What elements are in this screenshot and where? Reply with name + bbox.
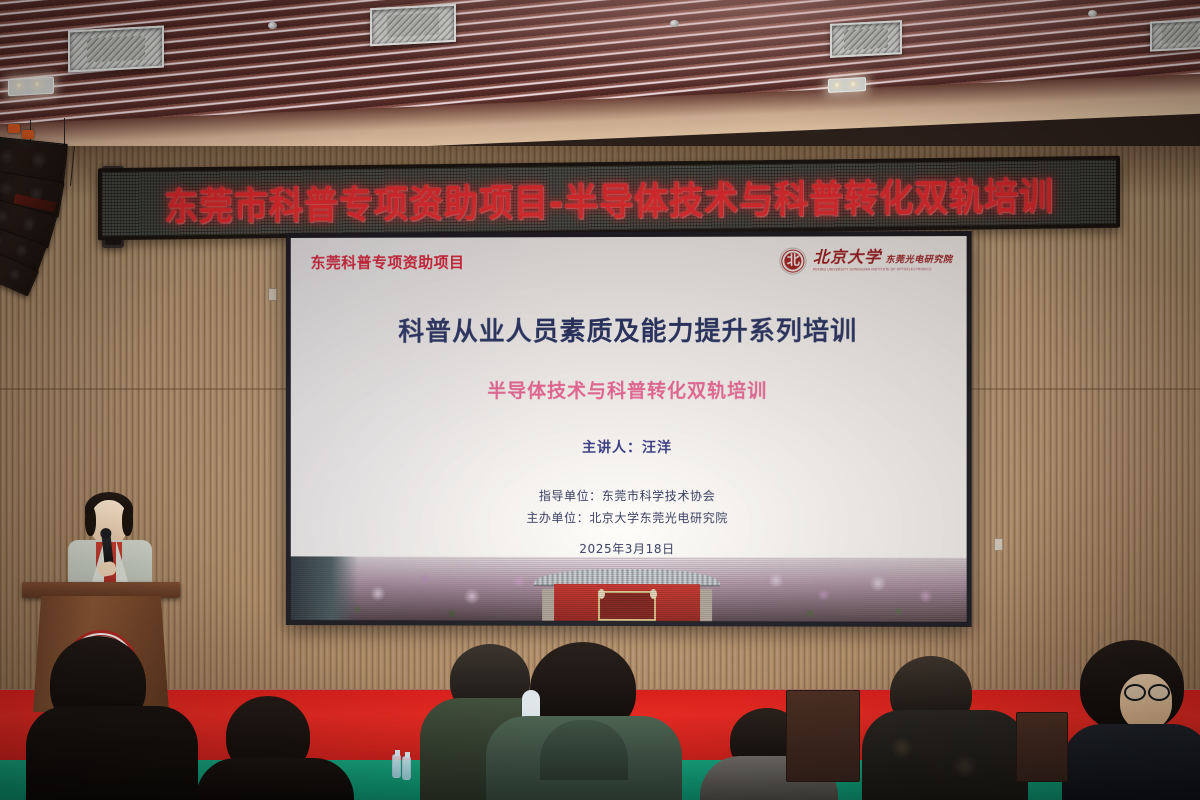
chair (786, 690, 860, 782)
pku-tiny-line: PEKING UNIVERSITY DONGGUAN INSTITUTE OF … (813, 268, 953, 272)
water-bottle (402, 756, 411, 780)
smoke-detector-icon (268, 22, 277, 29)
slide-body: 科普从业人员素质及能力提升系列培训 半导体技术与科普转化双轨培训 主讲人：汪洋 … (291, 284, 967, 557)
wall-outlet (268, 288, 277, 301)
led-banner-text: 东莞市科普专项资助项目-半导体技术与科普转化双轨培训 (164, 165, 1054, 231)
air-vent-icon (370, 4, 456, 47)
attendee-left (196, 680, 356, 800)
led-banner: 东莞市科普专项资助项目-半导体技术与科普转化双轨培训 (98, 156, 1120, 240)
pku-wordmark: 北京大学 东莞光电研究院 PEKING UNIVERSITY DONGGUAN … (813, 249, 953, 272)
slide-header: 东莞科普专项资助项目 北 北京大学 东莞光电研究院 PEKING UNIVERS… (291, 236, 967, 286)
slide-logo-group: 北 北京大学 东莞光电研究院 PEKING UNIVERSITY DONGGUA… (780, 247, 953, 275)
chair (1016, 712, 1068, 782)
ceiling-spotlight (828, 77, 866, 93)
eyeglasses-icon (1148, 684, 1170, 701)
slide-photo-strip (291, 556, 967, 622)
rigging-clamp (8, 124, 20, 133)
slide-date: 2025年3月18日 (579, 540, 674, 557)
attendee-front-left (22, 630, 202, 800)
slide-org-line: 指导单位：东莞市科学技术协会 (539, 487, 715, 504)
wall-outlet (994, 538, 1003, 551)
pku-seal-icon: 北 (780, 247, 807, 274)
slide-header-title: 东莞科普专项资助项目 (311, 251, 465, 272)
water-bottle (392, 754, 401, 778)
smoke-detector-icon (670, 20, 679, 27)
pku-seal-glyph: 北 (785, 252, 802, 269)
led-screen: 东莞市科普专项资助项目-半导体技术与科普转化双轨培训 (102, 160, 1116, 236)
air-vent-icon (830, 20, 902, 58)
slide-subtitle: 半导体技术与科普转化双轨培训 (487, 376, 767, 403)
air-vent-icon (1150, 18, 1200, 51)
attendee-center (486, 628, 686, 800)
attendee-far-right (1062, 640, 1200, 800)
smoke-detector-icon (1088, 10, 1097, 17)
attendee-right (862, 650, 1032, 800)
pku-name-cn: 北京大学 (813, 249, 881, 265)
slide-title: 科普从业人员素质及能力提升系列培训 (398, 311, 857, 349)
air-vent-icon (68, 25, 164, 72)
photo-left-edge (291, 556, 358, 620)
projection-screen: 东莞科普专项资助项目 北 北京大学 东莞光电研究院 PEKING UNIVERS… (286, 231, 972, 627)
photo-scene: 东莞市科普专项资助项目-半导体技术与科普转化双轨培训 东莞科普专项资助项目 北 … (0, 0, 1200, 800)
eyeglasses-icon (1124, 684, 1146, 701)
rigging-clamp (22, 130, 34, 139)
presentation-slide: 东莞科普专项资助项目 北 北京大学 东莞光电研究院 PEKING UNIVERS… (291, 236, 967, 622)
ceiling-spotlight (8, 77, 54, 96)
slide-org-line: 主办单位：北京大学东莞光电研究院 (526, 509, 728, 526)
pku-institute-cn: 东莞光电研究院 (885, 256, 952, 265)
pavilion-building (542, 569, 712, 621)
slide-organizers: 指导单位：东莞市科学技术协会 主办单位：北京大学东莞光电研究院 (526, 487, 728, 526)
slide-speaker-line: 主讲人：汪洋 (582, 437, 672, 457)
